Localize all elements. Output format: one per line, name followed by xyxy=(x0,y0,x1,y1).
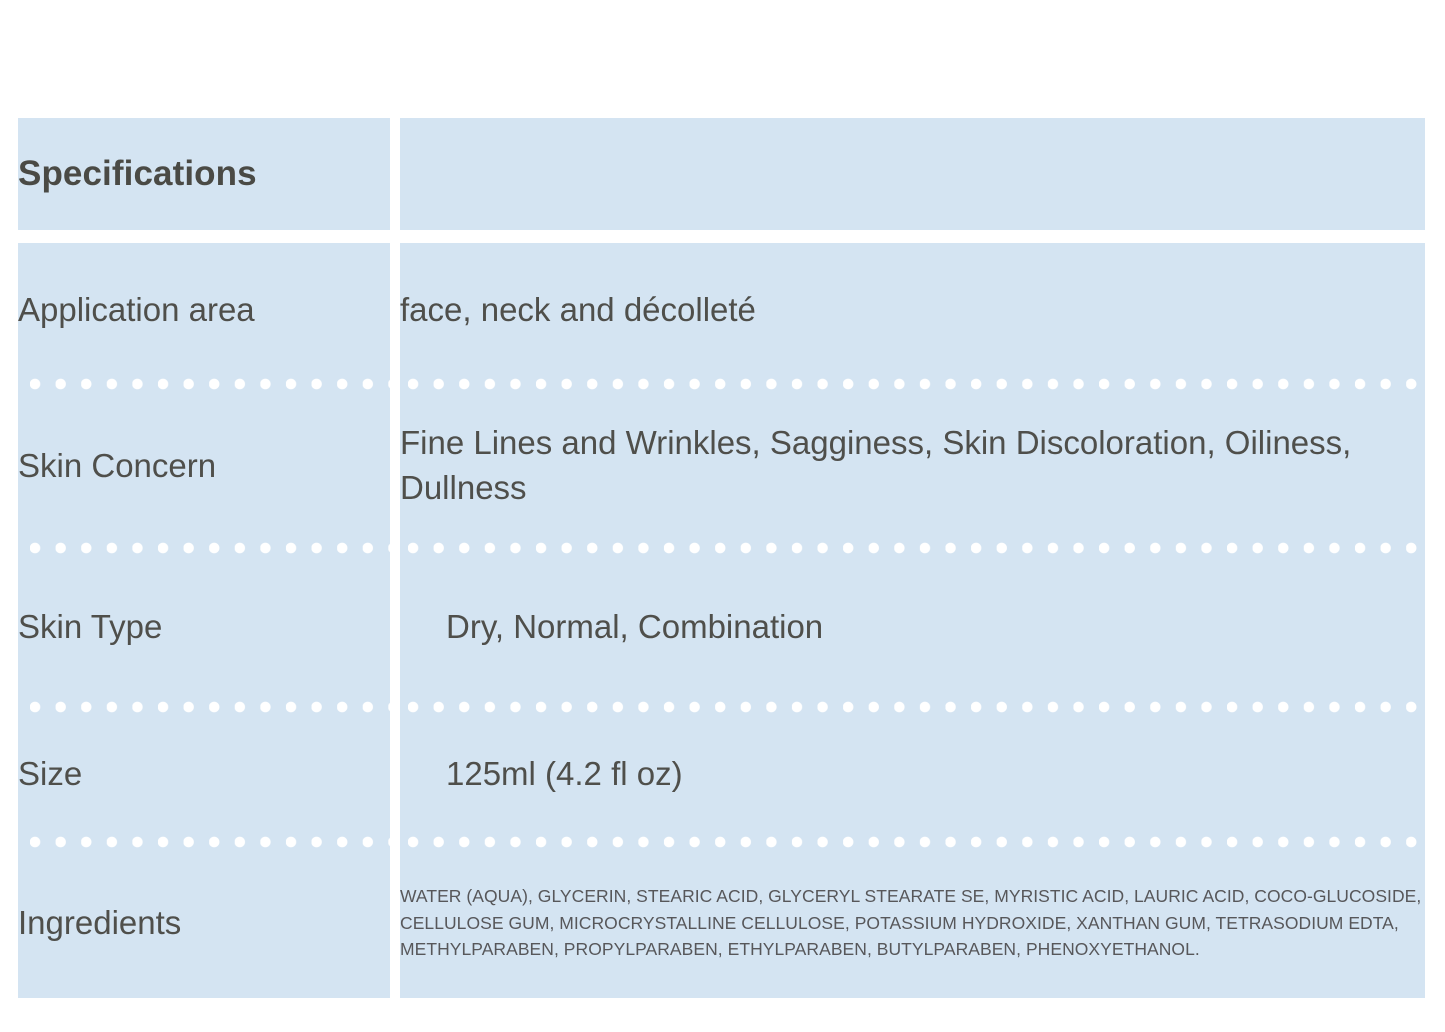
row-divider-right xyxy=(400,836,1425,848)
row-divider-gutter xyxy=(390,378,400,390)
row-label-application-area: Application area xyxy=(18,243,390,378)
dotted-line xyxy=(400,836,1425,848)
header-gap-center xyxy=(390,230,400,243)
row-divider xyxy=(18,836,1425,848)
row-value-ingredients: WATER (AQUA), GLYCERIN, STEARIC ACID, GL… xyxy=(400,848,1425,998)
specifications-table: Specifications Application area face, ne… xyxy=(18,118,1425,998)
row-value-skin-type: Dry, Normal, Combination xyxy=(400,554,1425,701)
page-title: Specifications xyxy=(18,118,390,230)
dotted-line xyxy=(18,542,390,554)
header-gap-left xyxy=(18,230,390,243)
row-divider-right xyxy=(400,378,1425,390)
row-divider-left xyxy=(18,701,390,713)
specifications-page: Specifications Application area face, ne… xyxy=(0,0,1445,1032)
row-value-application-area: face, neck and décolleté xyxy=(400,243,1425,378)
row-divider xyxy=(18,542,1425,554)
column-gutter xyxy=(390,713,400,836)
column-gutter xyxy=(390,390,400,542)
row-divider-right xyxy=(400,542,1425,554)
row-label-skin-concern: Skin Concern xyxy=(18,390,390,542)
header-value-cell xyxy=(400,118,1425,230)
row-divider-left xyxy=(18,836,390,848)
row-value-skin-concern: Fine Lines and Wrinkles, Sagginess, Skin… xyxy=(400,390,1425,542)
header-gap xyxy=(18,230,1425,243)
dotted-line xyxy=(400,378,1425,390)
row-divider-left xyxy=(18,378,390,390)
dotted-line xyxy=(400,701,1425,713)
header-gap-right xyxy=(400,230,1425,243)
row-value-size: 125ml (4.2 fl oz) xyxy=(400,713,1425,836)
table-row: Application area face, neck and décollet… xyxy=(18,243,1425,378)
dotted-line xyxy=(18,701,390,713)
row-label-size: Size xyxy=(18,713,390,836)
row-divider-gutter xyxy=(390,701,400,713)
row-divider xyxy=(18,701,1425,713)
column-gutter xyxy=(390,554,400,701)
row-divider-right xyxy=(400,701,1425,713)
table-row: Size 125ml (4.2 fl oz) xyxy=(18,713,1425,836)
table-header-row: Specifications xyxy=(18,118,1425,230)
column-gutter xyxy=(390,118,400,230)
dotted-line xyxy=(18,378,390,390)
dotted-line xyxy=(18,836,390,848)
table-row: Ingredients WATER (AQUA), GLYCERIN, STEA… xyxy=(18,848,1425,998)
row-divider-left xyxy=(18,542,390,554)
column-gutter xyxy=(390,848,400,998)
table-row: Skin Concern Fine Lines and Wrinkles, Sa… xyxy=(18,390,1425,542)
column-gutter xyxy=(390,243,400,378)
row-divider xyxy=(18,378,1425,390)
table-row: Skin Type Dry, Normal, Combination xyxy=(18,554,1425,701)
row-label-ingredients: Ingredients xyxy=(18,848,390,998)
row-divider-gutter xyxy=(390,542,400,554)
dotted-line xyxy=(400,542,1425,554)
row-label-skin-type: Skin Type xyxy=(18,554,390,701)
row-divider-gutter xyxy=(390,836,400,848)
